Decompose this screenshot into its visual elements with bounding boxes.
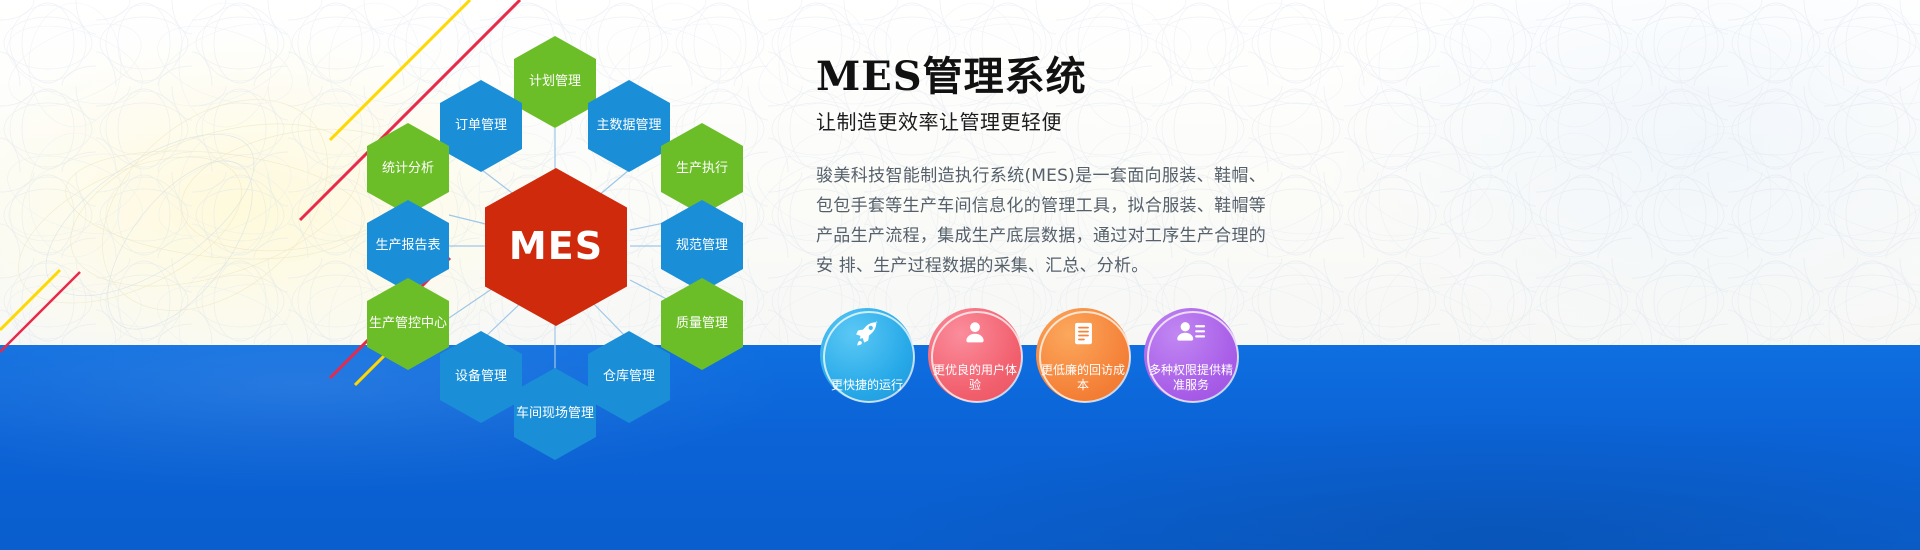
hex-label: 车间现场管理 — [516, 406, 594, 422]
hex-label: 生产管控中心 — [369, 316, 447, 332]
badge-label: 更快捷的运行 — [823, 378, 911, 393]
badge-faster-operation[interactable]: 更快捷的运行 — [820, 308, 914, 402]
badge-label: 多种权限提供精准服务 — [1147, 363, 1235, 393]
hex-label: 生产报告表 — [375, 238, 440, 254]
user-icon — [928, 318, 1022, 348]
hex-label: 设备管理 — [455, 369, 507, 385]
banner-subtitle: 让制造更效率让管理更轻便 — [816, 106, 1286, 135]
mes-hexagon-diagram: MES 计划管理 订单管理 主数据管理 统计分析 生产执行 生产报告表 规范管理… — [330, 18, 770, 438]
mes-promo-banner: MES 计划管理 订单管理 主数据管理 统计分析 生产执行 生产报告表 规范管理… — [0, 0, 1920, 550]
badge-lower-revisit-cost[interactable]: 更低廉的回访成本 — [1036, 308, 1130, 402]
banner-text-block: MES管理系统 让制造更效率让管理更轻便 骏美科技智能制造执行系统(MES)是一… — [816, 56, 1286, 281]
banner-description: 骏美科技智能制造执行系统(MES)是一套面向服装、鞋帽、包包手套等生产车间信息化… — [816, 161, 1266, 281]
feature-badge-row: 更快捷的运行 更优良的用户体验 — [820, 308, 1238, 402]
users-list-icon — [1144, 318, 1238, 348]
badge-label: 更优良的用户体验 — [931, 363, 1019, 393]
hex-label: 订单管理 — [455, 118, 507, 134]
hex-label: 仓库管理 — [603, 369, 655, 385]
rocket-icon — [820, 318, 914, 348]
hex-node-center-label: MES — [509, 223, 603, 271]
hex-label: 统计分析 — [382, 161, 434, 177]
hex-label: 规范管理 — [676, 238, 728, 254]
document-icon — [1036, 318, 1130, 348]
hex-label: 主数据管理 — [596, 118, 661, 134]
badge-multi-permission-service[interactable]: 多种权限提供精准服务 — [1144, 308, 1238, 402]
badge-label: 更低廉的回访成本 — [1039, 363, 1127, 393]
hex-label: 质量管理 — [676, 316, 728, 332]
hex-label: 计划管理 — [529, 74, 581, 90]
banner-title: MES管理系统 — [816, 56, 1286, 98]
badge-better-user-experience[interactable]: 更优良的用户体验 — [928, 308, 1022, 402]
hex-label: 生产执行 — [676, 161, 728, 177]
